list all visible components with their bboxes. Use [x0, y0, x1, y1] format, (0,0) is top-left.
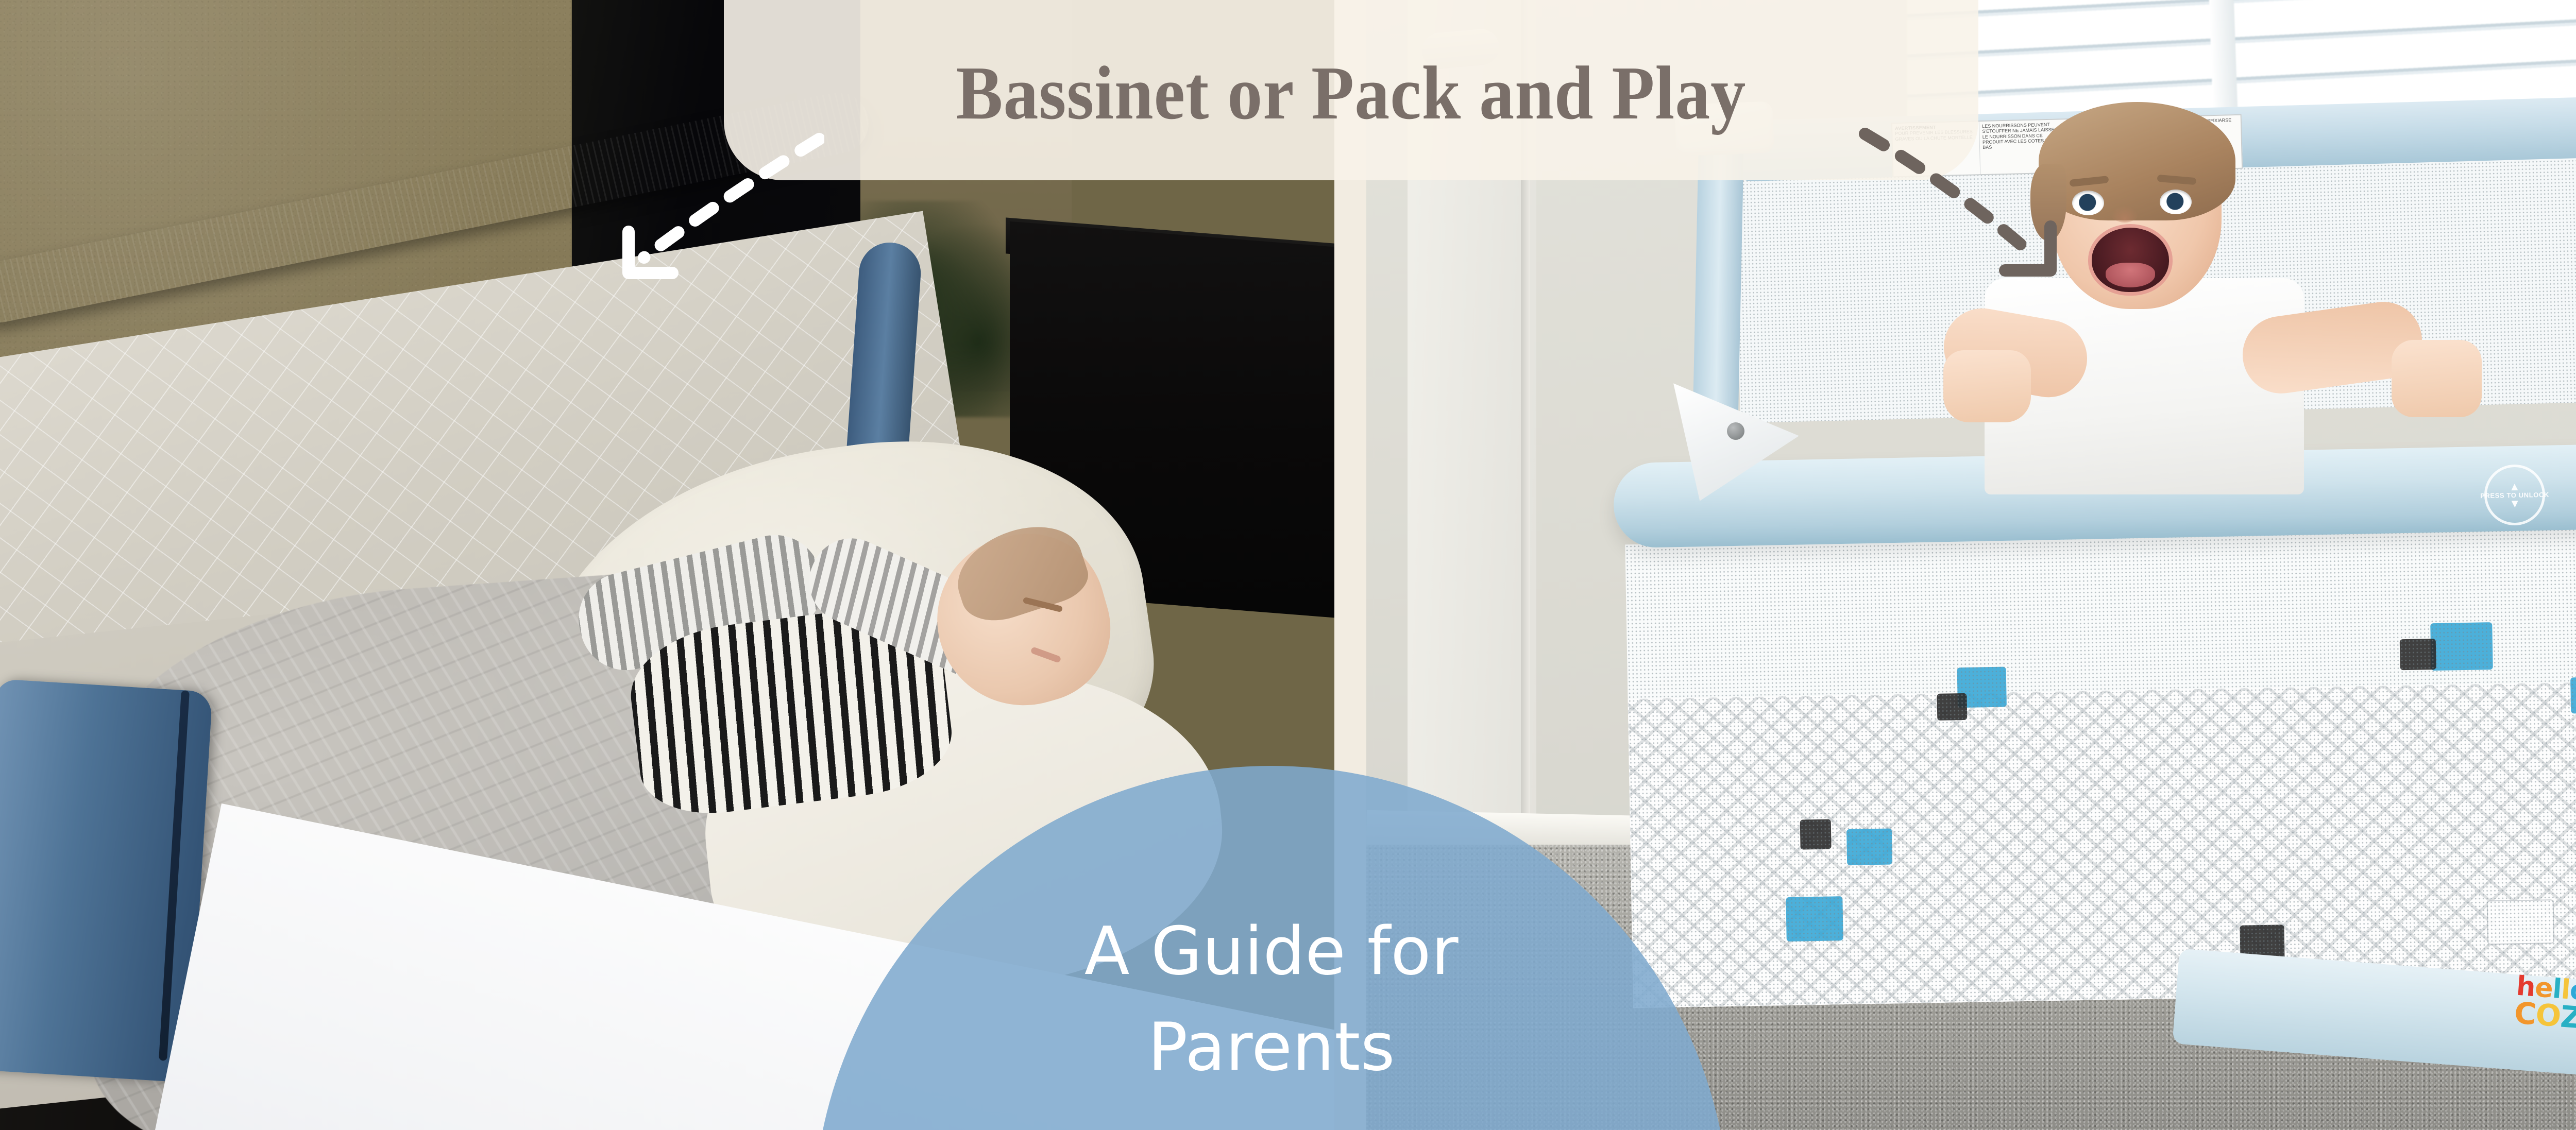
- toddler-nose: [2111, 205, 2139, 222]
- pnp-hinge-screw: [1727, 422, 1744, 440]
- dashed-arrow-right: [1834, 124, 2102, 288]
- toddler-hand-left: [1943, 350, 2031, 422]
- dashed-arrow-left: [556, 129, 824, 299]
- infographic-canvas: AVERTISSEMENT POUR PREVENIR LES BLESSURE…: [0, 0, 2576, 1130]
- toy-blue-5: [2570, 677, 2576, 713]
- toy-dark-2: [2400, 639, 2436, 670]
- toddler-tongue: [2106, 263, 2155, 287]
- toy-white-1: [2487, 899, 2554, 945]
- badge-line-2: Parents: [1148, 1000, 1395, 1095]
- pnp-patterned-mat: [1628, 681, 2576, 1008]
- page-title: Bassinet or Pack and Play: [956, 49, 1747, 180]
- pnp-front-mesh-panel: [1625, 527, 2576, 1008]
- logo-cozy-text: COZY!: [2513, 999, 2576, 1035]
- toy-blue-1: [1957, 667, 2007, 708]
- toy-dark-3: [1800, 819, 1832, 850]
- arrow-up-icon: ▲: [2509, 482, 2520, 491]
- toy-blue-3: [1846, 828, 1892, 865]
- hello-cozy-logo: hello COZY!: [2513, 974, 2576, 1035]
- arrow-down-icon: ▼: [2509, 499, 2520, 508]
- toy-blue-4: [1786, 896, 1843, 941]
- title-banner: Bassinet or Pack and Play: [724, 0, 1978, 180]
- badge-line-1: A Guide for: [1084, 904, 1459, 1000]
- toy-dark-1: [1937, 693, 1967, 721]
- toddler-hand-right: [2392, 340, 2482, 417]
- toy-blue-2: [2430, 622, 2493, 671]
- toddler-eye-right: [2160, 190, 2192, 214]
